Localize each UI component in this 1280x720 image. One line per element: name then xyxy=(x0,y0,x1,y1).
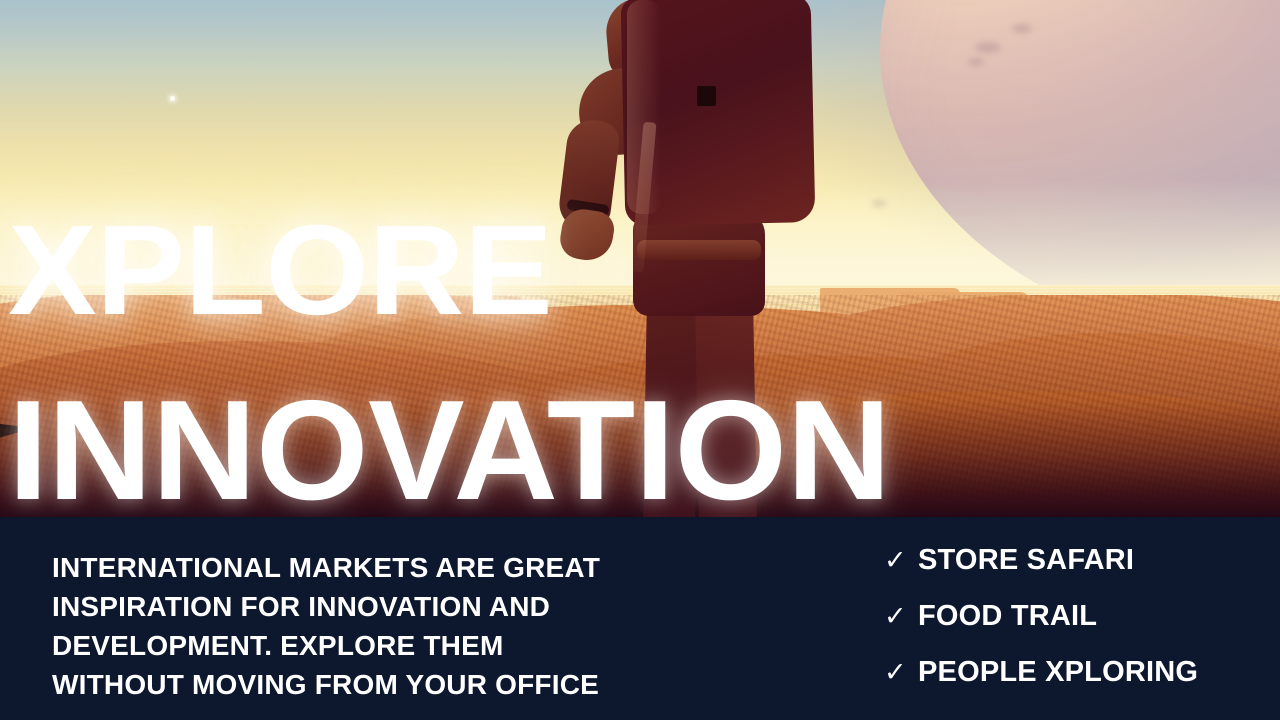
body-line: WITHOUT MOVING FROM YOUR OFFICE xyxy=(52,665,672,704)
astronaut-backpack-badge xyxy=(697,86,716,106)
astronaut-torso xyxy=(633,212,765,316)
check-icon: ✓ xyxy=(884,603,918,630)
body-paragraph: INTERNATIONAL MARKETS ARE GREAT INSPIRAT… xyxy=(52,548,672,704)
body-line: INTERNATIONAL MARKETS ARE GREAT xyxy=(52,548,672,587)
body-line: DEVELOPMENT. EXPLORE THEM xyxy=(52,626,672,665)
headline-line-1: XPLORE xyxy=(8,207,552,335)
planet-surface-mark xyxy=(1012,24,1032,33)
slide-canvas: XPLORE INNOVATION INTERNATIONAL MARKETS … xyxy=(0,0,1280,720)
list-item[interactable]: ✓ STORE SAFARI xyxy=(884,536,1274,584)
list-item[interactable]: ✓ FOOD TRAIL xyxy=(884,592,1274,640)
check-icon: ✓ xyxy=(884,547,918,574)
headline-line-2: INNOVATION xyxy=(8,380,891,522)
body-line: INSPIRATION FOR INNOVATION AND xyxy=(52,587,672,626)
astronaut-belt xyxy=(637,240,761,260)
feature-bullet-list: ✓ STORE SAFARI ✓ FOOD TRAIL ✓ PEOPLE XPL… xyxy=(884,536,1274,704)
list-item[interactable]: ✓ PEOPLE XPLORING xyxy=(884,648,1274,696)
planet-surface-mark xyxy=(968,58,984,66)
bullet-label: STORE SAFARI xyxy=(918,544,1134,577)
planet-surface-mark xyxy=(975,42,1001,53)
bullet-label: FOOD TRAIL xyxy=(918,600,1097,633)
bullet-label: PEOPLE XPLORING xyxy=(918,656,1198,689)
check-icon: ✓ xyxy=(884,659,918,686)
